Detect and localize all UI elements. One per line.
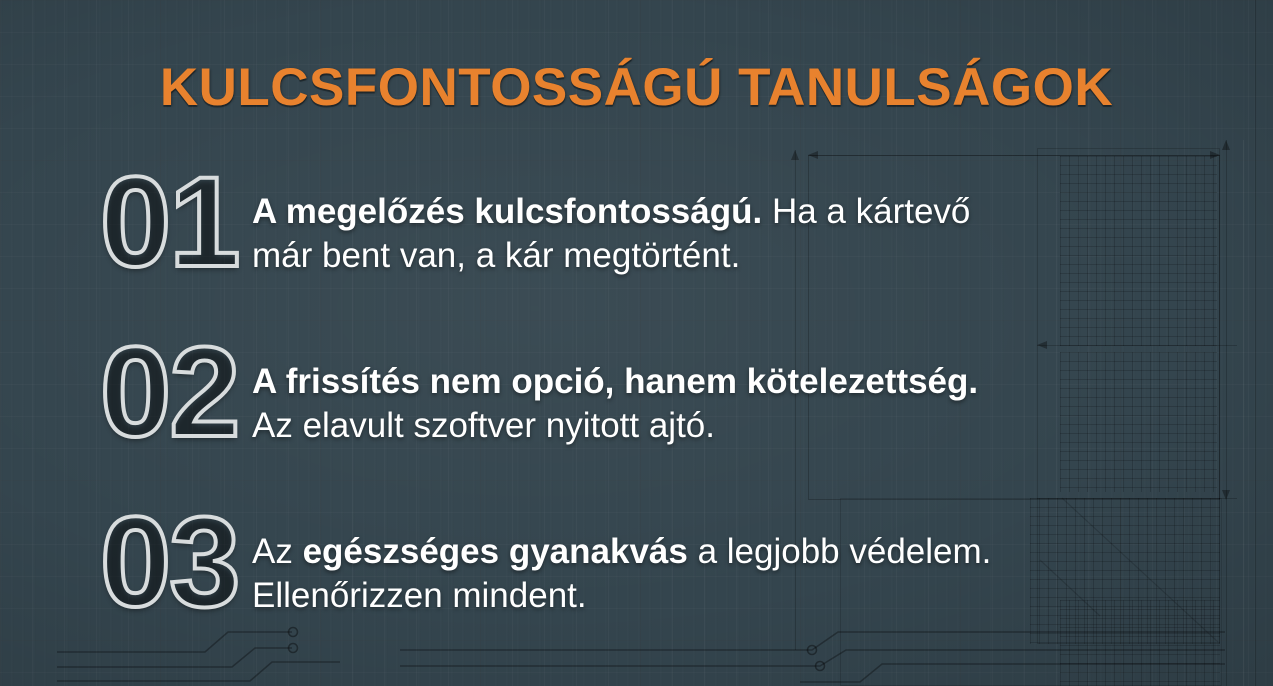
lesson-plain-lead: Az	[252, 532, 303, 571]
lesson-line-2: Az elavult szoftver nyitott ajtó.	[252, 404, 1090, 448]
lesson-number-03: 03	[0, 500, 210, 625]
lesson-line-1: A frissítés nem opció, hanem kötelezetts…	[252, 360, 1090, 404]
lesson-plain: Ha a kártevő	[762, 192, 970, 231]
list-item: 02 A frissítés nem opció, hanem köteleze…	[0, 330, 1273, 500]
lesson-text-01: A megelőzés kulcsfontosságú. Ha a kártev…	[210, 160, 1090, 278]
lesson-emphasis: A frissítés nem opció, hanem kötelezetts…	[252, 362, 978, 401]
lesson-text-03: Az egészséges gyanakvás a legjobb védele…	[210, 500, 1090, 618]
lesson-number-02: 02	[0, 330, 210, 455]
lesson-emphasis: A megelőzés kulcsfontosságú.	[252, 192, 762, 231]
lesson-plain-tail: a legjobb védelem.	[688, 532, 992, 571]
lessons-list: 01 A megelőzés kulcsfontosságú. Ha a kár…	[0, 160, 1273, 670]
list-item: 03 Az egészséges gyanakvás a legjobb véd…	[0, 500, 1273, 670]
lesson-line-2: már bent van, a kár megtörtént.	[252, 234, 1090, 278]
lesson-line-2: Ellenőrizzen mindent.	[252, 574, 1090, 618]
lesson-line-1: A megelőzés kulcsfontosságú. Ha a kártev…	[252, 190, 1090, 234]
slide-root: KULCSFONTOSSÁGÚ TANULSÁGOK 01 A megelőzé…	[0, 0, 1273, 686]
list-item: 01 A megelőzés kulcsfontosságú. Ha a kár…	[0, 160, 1273, 330]
lesson-emphasis: egészséges gyanakvás	[303, 532, 688, 571]
lesson-text-02: A frissítés nem opció, hanem kötelezetts…	[210, 330, 1090, 448]
lesson-line-1: Az egészséges gyanakvás a legjobb védele…	[252, 530, 1090, 574]
lesson-number-01: 01	[0, 160, 210, 285]
dimension-line	[808, 155, 1220, 156]
page-title: KULCSFONTOSSÁGÚ TANULSÁGOK	[0, 57, 1273, 118]
